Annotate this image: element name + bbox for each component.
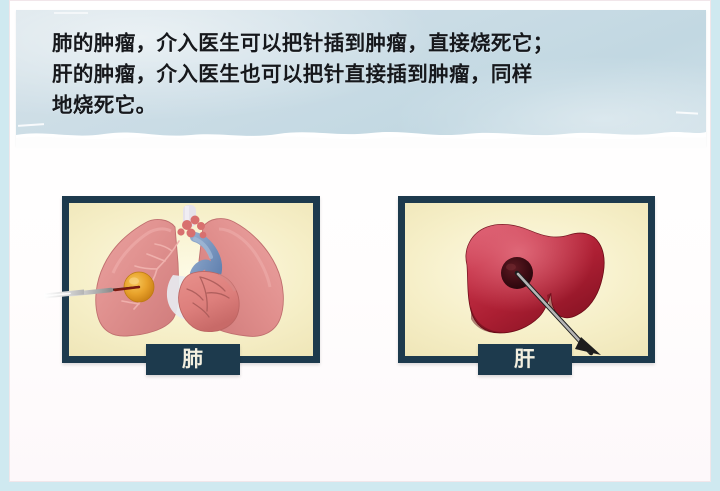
panel-liver-canvas [405,203,648,356]
infographic-page: 肺的肿瘤，介入医生可以把针插到肿瘤，直接烧死它； 肝的肿瘤，介入医生也可以把针直… [0,0,720,491]
panel-label-liver: 肝 [478,344,572,375]
panel-liver [398,196,655,363]
lung-illustration [69,203,313,356]
panel-label-lung: 肺 [146,344,240,375]
banner-caption-text: 肺的肿瘤，介入医生可以把针插到肿瘤，直接烧死它； 肝的肿瘤，介入医生也可以把针直… [52,28,682,121]
banner-torn-edge [16,126,706,148]
liver-illustration [405,203,648,356]
panel-lung [62,196,320,363]
panel-lung-canvas [69,203,313,356]
header-banner: 肺的肿瘤，介入医生可以把针插到肿瘤，直接烧死它； 肝的肿瘤，介入医生也可以把针直… [16,10,706,146]
